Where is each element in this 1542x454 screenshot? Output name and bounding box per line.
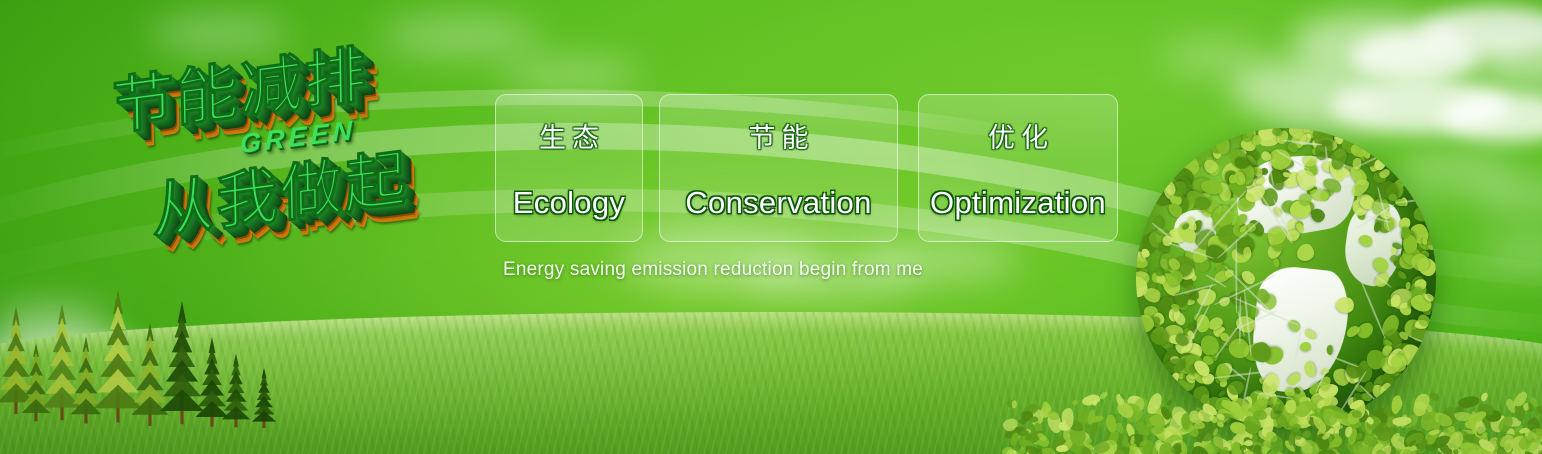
eco-banner: 节能减排 GREEN 从我做起 生态 Ecology 节能 Conservati… (0, 0, 1542, 454)
vignette-overlay (0, 0, 1542, 454)
